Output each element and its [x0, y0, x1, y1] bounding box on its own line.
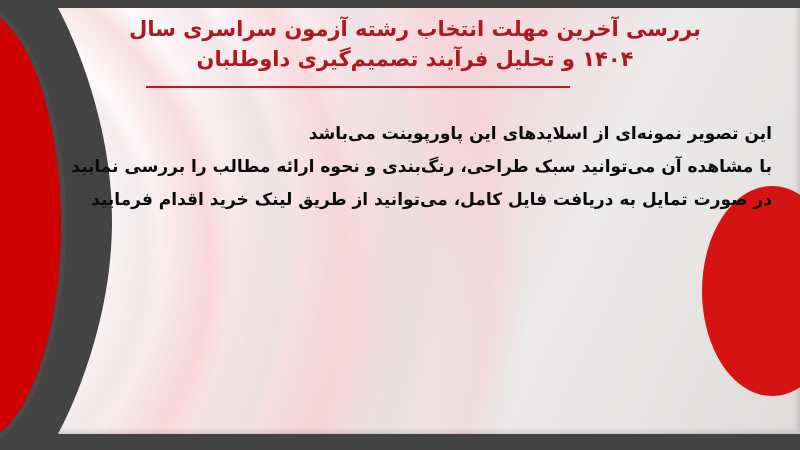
slide-title: بررسی آخرین مهلت انتخاب رشته آزمون سراسر… [110, 14, 720, 74]
body-line-3: در صورت تمایل به دریافت فایل کامل، می‌تو… [90, 184, 772, 217]
frame-bottom-band [0, 432, 800, 450]
body-line-1: این تصویر نمونه‌ای از اسلایدهای این پاور… [90, 118, 772, 151]
title-line-2: ۱۴۰۴ و تحلیل فرآیند تصمیم‌گیری داوطلبان [110, 44, 720, 74]
slide-body: این تصویر نمونه‌ای از اسلایدهای این پاور… [90, 118, 772, 217]
title-line-1: بررسی آخرین مهلت انتخاب رشته آزمون سراسر… [110, 14, 720, 44]
body-line-2: با مشاهده آن می‌توانید سبک طراحی، رنگ‌بن… [90, 151, 772, 184]
slide-canvas: بررسی آخرین مهلت انتخاب رشته آزمون سراسر… [0, 0, 800, 450]
title-underline [146, 86, 570, 88]
